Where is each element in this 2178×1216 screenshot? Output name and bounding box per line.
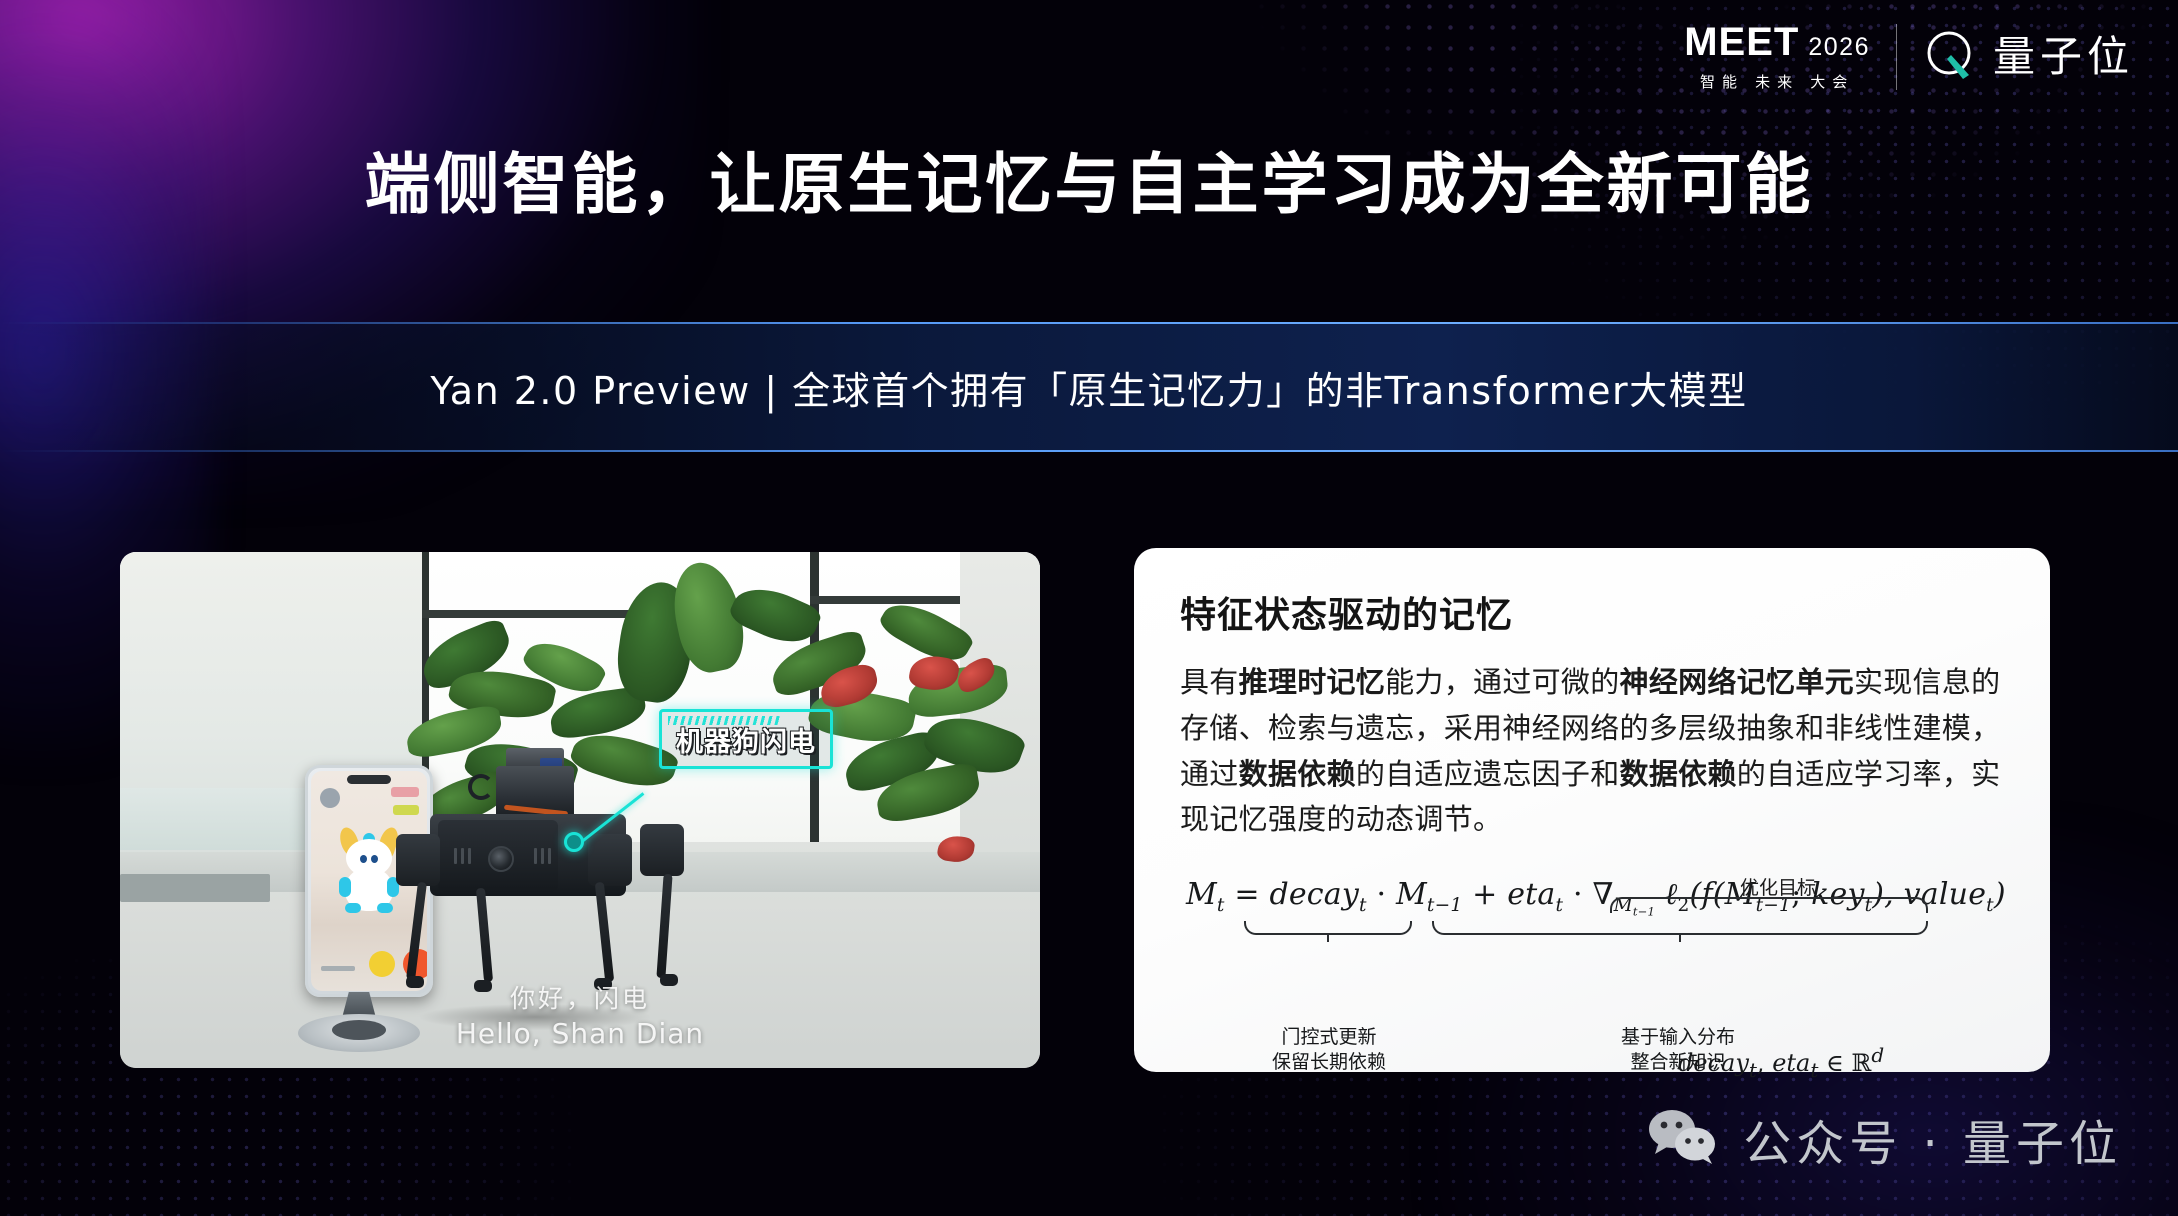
robot-dog-hip xyxy=(640,824,684,876)
body-text-bold-4: 数据依赖 xyxy=(1620,757,1737,791)
meet-subtitle: 智能 未来 大会 xyxy=(1700,71,1854,92)
phone-character-eye xyxy=(371,855,378,863)
card-body-text: 具有推理时记忆能力，通过可微的神经网络记忆单元实现信息的存储、检索与遗忘，采用神… xyxy=(1180,660,2004,843)
robot-dog-vent xyxy=(461,848,464,864)
robot-dog-hip xyxy=(396,834,440,886)
wechat-watermark: 公众号 · 量子位 xyxy=(1645,1104,2122,1174)
body-text-a: 具有 xyxy=(1180,665,1239,699)
formula-brace-left-tick xyxy=(1327,935,1329,942)
callout-label: 机器狗闪电 xyxy=(676,720,816,759)
phone-secondary-button xyxy=(369,951,395,977)
annotation-left-line1: 门控式更新 xyxy=(1254,1025,1404,1050)
phone-status-chip xyxy=(391,787,419,797)
robot-dog-vent xyxy=(534,848,537,864)
annotation-left-line2: 保留长期依赖 xyxy=(1254,1050,1404,1075)
robot-dog-vent xyxy=(454,848,457,864)
body-text-bold-2: 神经网络记忆单元 xyxy=(1620,665,1854,699)
formula-top-label: 优化目标 xyxy=(1740,873,1816,900)
body-text-bold-1: 推理时记忆 xyxy=(1239,665,1386,699)
phone-avatar-icon xyxy=(320,788,340,808)
meet-logo-row: MEET 2026 xyxy=(1684,22,1870,62)
demo-photo: 机器狗闪电 你好，闪电 Hello, Shan Dian xyxy=(120,552,1040,1068)
photo-side-table xyxy=(120,874,270,902)
phone-caption-line xyxy=(321,966,355,971)
callout-anchor-dot xyxy=(564,832,584,852)
formula-top-brace xyxy=(1610,897,1928,913)
formula-brace-right-tick xyxy=(1679,935,1681,942)
robot-dog-camera-lens xyxy=(488,846,514,872)
page-title: 端侧智能，让原生记忆与自主学习成为全新可能 xyxy=(0,148,2178,222)
subtitle-text: Yan 2.0 Preview | 全球首个拥有「原生记忆力」的非Transfo… xyxy=(0,322,2178,452)
robot-dog-vent xyxy=(468,848,471,864)
meet-wordmark: MEET xyxy=(1684,22,1799,62)
phone-status-chip xyxy=(393,805,419,815)
phone-character-eye xyxy=(360,855,367,863)
body-text-bold-3: 数据依赖 xyxy=(1239,757,1356,791)
phone-notch xyxy=(347,775,391,784)
robot-dog-hip xyxy=(588,834,632,886)
photo-caption-cn: 你好，闪电 xyxy=(120,979,1040,1015)
body-text-c: 能力，通过可微的 xyxy=(1385,665,1619,699)
phone-character-foot xyxy=(345,903,361,913)
formula-bottom-braces xyxy=(1180,921,2004,941)
qbit-q-icon xyxy=(1923,27,1979,88)
body-text-f: 的自适应遗忘因子和 xyxy=(1356,757,1620,791)
formula-brace-left xyxy=(1244,921,1412,935)
formula-brace-right xyxy=(1432,921,1928,935)
phone-character-head xyxy=(346,839,392,877)
callout-hatch-decor xyxy=(668,716,780,725)
subtitle-band: Yan 2.0 Preview | 全球首个拥有「原生记忆力」的非Transfo… xyxy=(0,322,2178,452)
header-logo-bar: MEET 2026 智能 未来 大会 量子位 xyxy=(1684,22,2134,92)
phone-character-arm xyxy=(339,877,351,897)
photo-caption: 你好，闪电 Hello, Shan Dian xyxy=(120,979,1040,1050)
callout-box: 机器狗闪电 xyxy=(659,709,833,769)
meet-logo: MEET 2026 智能 未来 大会 xyxy=(1684,22,1870,92)
formula-annotation-left: 门控式更新 保留长期依赖 xyxy=(1254,1025,1404,1075)
logo-divider xyxy=(1896,24,1897,90)
slide-root: MEET 2026 智能 未来 大会 量子位 端侧智能，让原生记忆与自主学习成为… xyxy=(0,0,2178,1216)
card-heading: 特征状态驱动的记忆 xyxy=(1180,586,2004,638)
meet-year: 2026 xyxy=(1808,35,1870,62)
photo-caption-en: Hello, Shan Dian xyxy=(120,1017,1040,1050)
robot-dog-vent xyxy=(541,848,544,864)
phone-character-foot xyxy=(377,903,393,913)
qbitai-logo: 量子位 xyxy=(1923,27,2134,88)
robot-dog-cable-coil xyxy=(468,774,494,800)
qbit-wordmark: 量子位 xyxy=(1993,36,2134,78)
wechat-icon xyxy=(1645,1106,1721,1173)
robot-dog-vent xyxy=(548,848,551,864)
memory-update-formula: 优化目标 Mt = decayt · Mt−1 + etat · ∇Mt−1 ℓ… xyxy=(1180,877,2004,941)
info-card: 特征状态驱动的记忆 具有推理时记忆能力，通过可微的神经网络记忆单元实现信息的存储… xyxy=(1134,548,2050,1072)
watermark-text: 公众号 · 量子位 xyxy=(1743,1104,2122,1174)
formula-dimensions: decayt, etat ∈ ℝd xyxy=(1678,1043,1884,1082)
